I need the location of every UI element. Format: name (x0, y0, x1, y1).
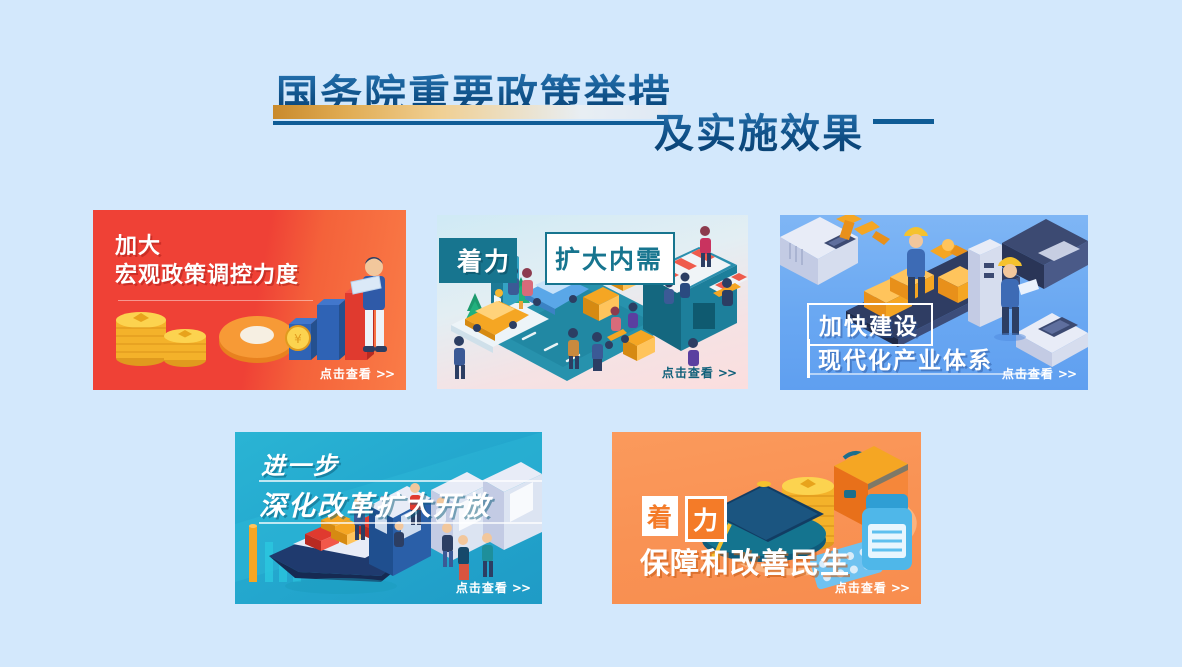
card3-cta[interactable]: 点击查看>> (1002, 365, 1076, 382)
card3-title-line-2: 现代化产业体系 (818, 348, 993, 374)
card1-title-line-1: 加大 (115, 232, 299, 261)
card-reform-opening[interactable]: 进一步 深化改革扩大开放 点击查看>> (235, 432, 542, 604)
card5-cta[interactable]: 点击查看>> (835, 579, 909, 596)
card4-cta[interactable]: 点击查看>> (456, 579, 530, 596)
card2-title-main-box: 扩大内需 (545, 232, 675, 285)
card5-badge-1-label: 着 (647, 503, 673, 532)
card2-cta-label: 点击查看 (662, 366, 714, 380)
card5-title-badge-1: 着 (642, 496, 678, 536)
card-modern-industry[interactable]: 加快建设 现代化产业体系 点击查看>> (780, 215, 1088, 390)
card3-cta-label: 点击查看 (1002, 367, 1054, 381)
card-macro-policy[interactable]: ¥ 加大 宏观政策调控力度 点击查看>> (93, 210, 406, 390)
card-expand-demand[interactable]: 着力 扩大内需 点击查看>> (437, 215, 748, 389)
card5-cta-label: 点击查看 (835, 581, 887, 595)
card1-title-line-2: 宏观政策调控力度 (115, 261, 299, 290)
title-dash-decoration (873, 119, 934, 124)
card2-badge-label: 着力 (457, 247, 511, 276)
card1-title-rule (118, 300, 313, 301)
card4-cta-label: 点击查看 (456, 581, 508, 595)
chevron-right-icon: >> (1058, 367, 1076, 381)
card4-rule-2 (259, 522, 542, 524)
card4-rule-1 (259, 480, 542, 482)
chevron-right-icon: >> (376, 367, 394, 381)
card4-title-line-2: 深化改革扩大开放 (259, 484, 491, 523)
card1-cta-label: 点击查看 (320, 367, 372, 381)
card4-title-line-1: 进一步 (261, 446, 339, 481)
card5-badge-2-label: 力 (693, 506, 719, 535)
chevron-right-icon: >> (891, 581, 909, 595)
page-title-line-2: 及实施效果 (654, 101, 864, 159)
chevron-right-icon: >> (718, 366, 736, 380)
card2-title-main: 扩大内需 (555, 245, 663, 274)
card2-cta[interactable]: 点击查看>> (662, 364, 736, 381)
page-header: 国务院重要政策举措 及实施效果 (0, 0, 1182, 190)
card1-cta[interactable]: 点击查看>> (320, 365, 394, 382)
title-underline (273, 121, 668, 125)
card5-title-badge-2: 力 (685, 496, 727, 542)
card1-title: 加大 宏观政策调控力度 (115, 232, 299, 291)
chevron-right-icon: >> (512, 581, 530, 595)
svg-text:¥: ¥ (294, 332, 302, 346)
card3-title-line-1: 加快建设 (819, 314, 919, 340)
card-peoples-livelihood[interactable]: 着 力 保障和改善民生 点击查看>> (612, 432, 921, 604)
card5-title-main: 保障和改善民生 (640, 540, 850, 582)
card2-title-badge: 着力 (439, 238, 517, 283)
title-gold-bar (273, 105, 668, 119)
